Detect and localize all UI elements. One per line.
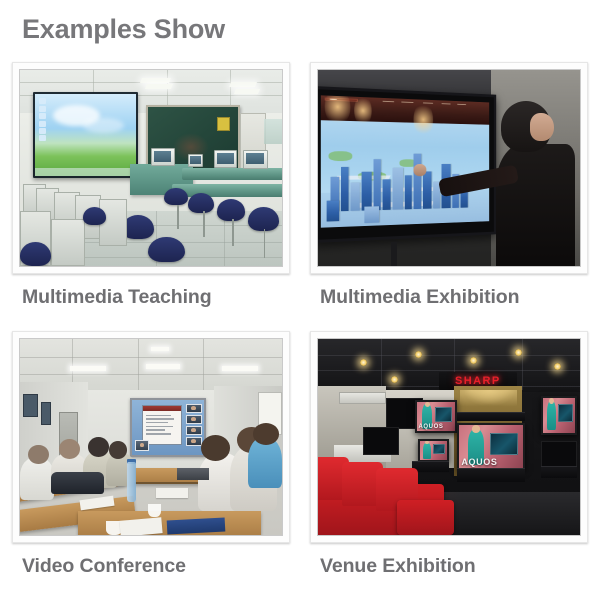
ceiling-spotlight	[415, 351, 422, 358]
page-title: Examples Show	[22, 14, 225, 45]
media-console	[412, 461, 449, 473]
tv-picture: AQUOS	[417, 402, 455, 431]
wall-picture	[23, 394, 39, 418]
card-caption: Video Conference	[22, 555, 288, 578]
display-screen	[321, 95, 490, 227]
photo-frame	[310, 62, 588, 274]
city-building	[341, 166, 348, 210]
classroom-chair	[217, 199, 246, 221]
photo-frame	[12, 62, 290, 274]
display-stand	[391, 242, 396, 266]
city-building	[365, 206, 379, 223]
ceiling-lamp	[234, 89, 260, 94]
student-desk-row	[182, 168, 283, 180]
screen-nav-item	[441, 103, 451, 104]
visitor-face	[530, 113, 554, 140]
participant-thumbnail-main	[135, 440, 149, 451]
media-console	[457, 412, 525, 422]
card-multimedia-exhibition[interactable]: Multimedia Exhibition	[300, 62, 600, 309]
ceiling-spotlight	[515, 349, 522, 356]
wall-television	[541, 441, 578, 468]
tv-picture-inset	[435, 407, 452, 422]
taskbar	[35, 168, 136, 175]
attendee-head	[201, 435, 230, 460]
participant-thumbnail	[186, 415, 202, 424]
participant-thumbnail	[186, 426, 202, 435]
grid-row-1: Multimedia Teaching	[0, 62, 600, 309]
city-building	[413, 154, 421, 209]
city-building	[393, 167, 403, 209]
aquos-television-main[interactable]: AQUOS	[457, 423, 525, 470]
glass-panel	[264, 119, 282, 144]
card-caption: Multimedia Exhibition	[320, 286, 588, 309]
student-monitor	[243, 150, 268, 169]
city-building	[382, 179, 391, 210]
tv-picture	[543, 398, 576, 433]
window-title-bar	[143, 406, 181, 411]
conference-document-window	[142, 405, 182, 444]
photo-venue-exhibition: SHARP	[317, 338, 581, 536]
screen-nav-item	[457, 103, 466, 104]
air-conditioner	[339, 392, 386, 404]
laptop-bag	[51, 472, 103, 494]
pointing-hand	[413, 164, 426, 176]
document	[119, 518, 162, 536]
classroom-chair	[83, 207, 107, 225]
classroom-chair	[188, 193, 214, 213]
visitor-body	[496, 144, 575, 266]
ceiling-light	[70, 366, 107, 371]
examples-show-page: Examples Show	[0, 0, 600, 600]
attendee-head	[59, 439, 80, 459]
attendee-head	[253, 423, 279, 445]
ceiling-spotlight	[470, 357, 477, 364]
attendee-head	[88, 437, 109, 457]
ceiling-light	[151, 347, 169, 351]
red-sofa-arm	[397, 500, 455, 535]
city-building	[423, 171, 431, 208]
student-monitor	[188, 154, 204, 167]
aquos-television[interactable]	[541, 396, 578, 435]
ceiling-spotlight	[554, 363, 561, 370]
card-caption: Multimedia Teaching	[22, 286, 288, 309]
city-building	[405, 175, 412, 209]
student-monitor	[214, 150, 238, 168]
water-bottle	[127, 462, 135, 501]
wall-television	[363, 427, 400, 454]
tv-picture-model	[547, 401, 555, 431]
laptop	[177, 468, 208, 480]
examples-grid: Multimedia Teaching	[0, 62, 600, 578]
ceiling-lamp	[145, 84, 173, 89]
card-venue-exhibition[interactable]: SHARP	[300, 331, 600, 578]
participant-thumbnail	[186, 404, 202, 413]
aquos-label: AQUOS	[461, 457, 497, 467]
tv-picture-model	[423, 443, 430, 459]
tv-picture	[420, 441, 447, 461]
classroom-chair	[20, 242, 51, 266]
attendee-head	[109, 441, 127, 459]
city-building	[326, 200, 339, 221]
ceiling-light	[146, 364, 180, 369]
aquos-television[interactable]	[418, 439, 449, 463]
ceiling-lamp	[229, 82, 257, 87]
aquos-label: AQUOS	[418, 424, 443, 430]
teacher-monitor	[151, 148, 175, 166]
media-console	[457, 468, 525, 482]
ceiling-lamp	[140, 78, 171, 83]
document	[156, 488, 187, 498]
interactive-display[interactable]	[317, 86, 496, 243]
grid-row-2: Video Conference	[0, 331, 600, 578]
wall-picture	[41, 402, 51, 426]
card-caption: Venue Exhibition	[320, 555, 588, 578]
tv-picture: AQUOS	[459, 425, 523, 468]
photo-frame: SHARP	[310, 331, 588, 543]
ceiling-spotlight	[360, 359, 367, 366]
photo-video-conference	[19, 338, 283, 536]
card-multimedia-teaching[interactable]: Multimedia Teaching	[0, 62, 300, 309]
student-desk-row	[172, 184, 283, 198]
projection-screen	[33, 92, 138, 178]
city-building	[361, 171, 372, 210]
photo-frame	[12, 331, 290, 543]
screen-nav-item	[401, 101, 413, 102]
wall-poster	[217, 117, 230, 131]
city-building	[373, 159, 380, 210]
classroom-chair	[248, 207, 279, 231]
media-console	[541, 466, 578, 478]
participant-thumbnail	[186, 437, 202, 446]
tv-picture-inset	[558, 404, 572, 422]
card-video-conference[interactable]: Video Conference	[0, 331, 300, 578]
screen-navigation-bar	[321, 95, 490, 125]
tv-picture-inset	[490, 433, 518, 455]
aquos-television[interactable]: AQUOS	[415, 400, 457, 433]
screen-nav-item	[382, 100, 394, 101]
photo-multimedia-exhibition	[317, 69, 581, 267]
photo-multimedia-teaching	[19, 69, 283, 267]
city-building	[350, 182, 359, 211]
tv-picture-inset	[433, 444, 445, 454]
workstation	[51, 219, 85, 266]
projected-desktop	[35, 94, 136, 176]
ceiling-light	[222, 366, 259, 371]
projected-screen	[130, 398, 206, 457]
paper-cup	[148, 504, 161, 518]
classroom-chair	[164, 188, 188, 206]
attendee-head	[28, 445, 49, 465]
classroom-chair	[148, 237, 185, 262]
